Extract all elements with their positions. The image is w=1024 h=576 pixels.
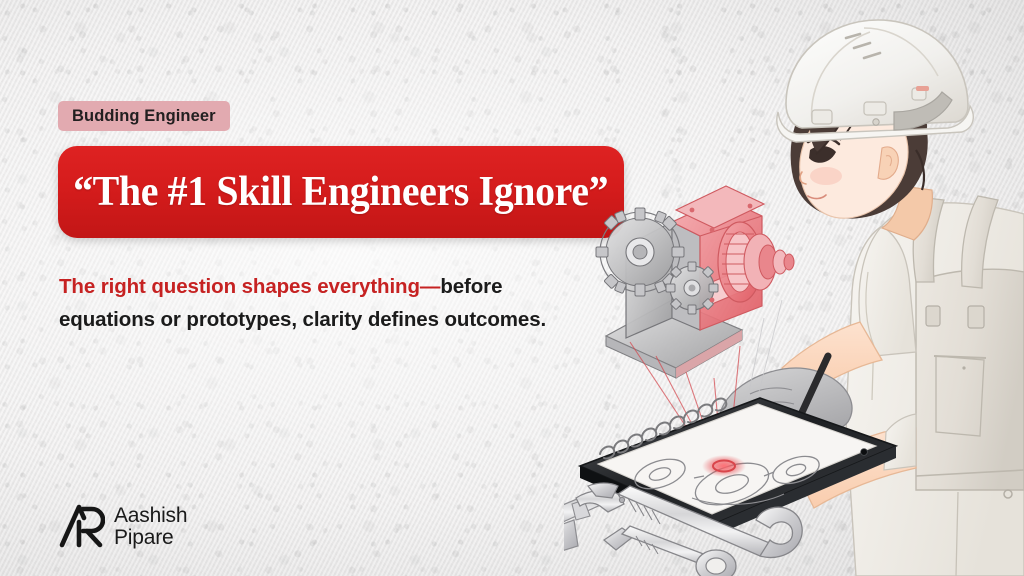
strap-buckle-left [926,306,940,326]
hologram-gear-red [718,222,794,302]
slide-canvas: Budding Engineer “The #1 Skill Engineers… [0,0,1024,576]
brand-logo-wordmark: Aashish Pipare [114,505,187,549]
eyebrow-badge: Budding Engineer [58,101,230,131]
hologram-gear-small [666,262,718,314]
hologram-anchor-glow [702,455,746,477]
ap-monogram-icon [59,500,105,553]
gearbox-hologram [596,186,794,378]
page-title: “The #1 Skill Engineers Ignore” [73,168,608,216]
engineer-cheek-blush [810,167,842,185]
engineer-overalls-bib [916,269,1024,490]
body-copy: The right question shapes everything—bef… [59,270,559,336]
headline-band: “The #1 Skill Engineers Ignore” [58,146,624,238]
eyebrow-label: Budding Engineer [72,107,216,126]
brand-logo-line2: Pipare [114,527,187,549]
brand-logo: Aashish Pipare [59,500,187,553]
tablet-camera [861,449,868,456]
body-copy-lead: The right question shapes everything— [59,275,440,298]
brand-logo-line1: Aashish [114,505,187,527]
engineer-illustration [564,0,1024,576]
strap-buckle-right [968,306,984,328]
